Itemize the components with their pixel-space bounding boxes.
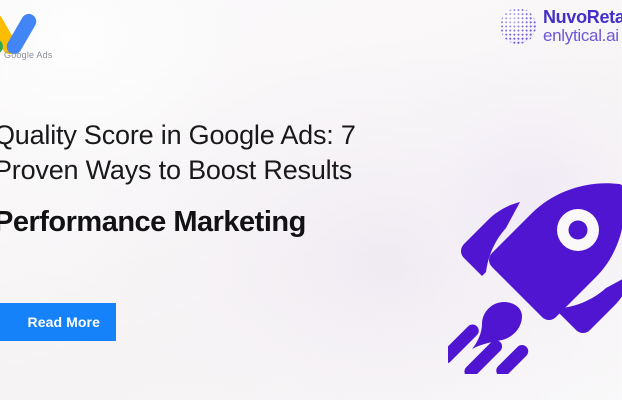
brand-tagline: enlytical.ai: [543, 27, 622, 44]
headline-line-1: Quality Score in Google Ads: 7: [0, 118, 424, 153]
brand-name: NuvoRetail: [543, 8, 622, 26]
brand-logo[interactable]: NuvoRetail enlytical.ai: [500, 8, 622, 44]
google-ads-logo-caption: Google Ads: [4, 50, 53, 60]
brand-wordmark: NuvoRetail enlytical.ai: [543, 8, 622, 44]
read-more-button[interactable]: Read More: [0, 303, 116, 341]
headline: Quality Score in Google Ads: 7 Proven Wa…: [0, 118, 424, 187]
blog-banner: Google Ads NuvoRetail enlytical.ai Quali…: [0, 0, 622, 400]
rocket-illustration: [448, 178, 622, 374]
globe-shading: [500, 8, 536, 44]
dotted-globe-icon: [500, 8, 536, 44]
google-ads-logo: [0, 10, 68, 76]
category-label: Performance Marketing: [0, 206, 306, 239]
rocket-window-inner-icon: [569, 221, 588, 240]
headline-line-2: Proven Ways to Boost Results: [0, 153, 424, 188]
